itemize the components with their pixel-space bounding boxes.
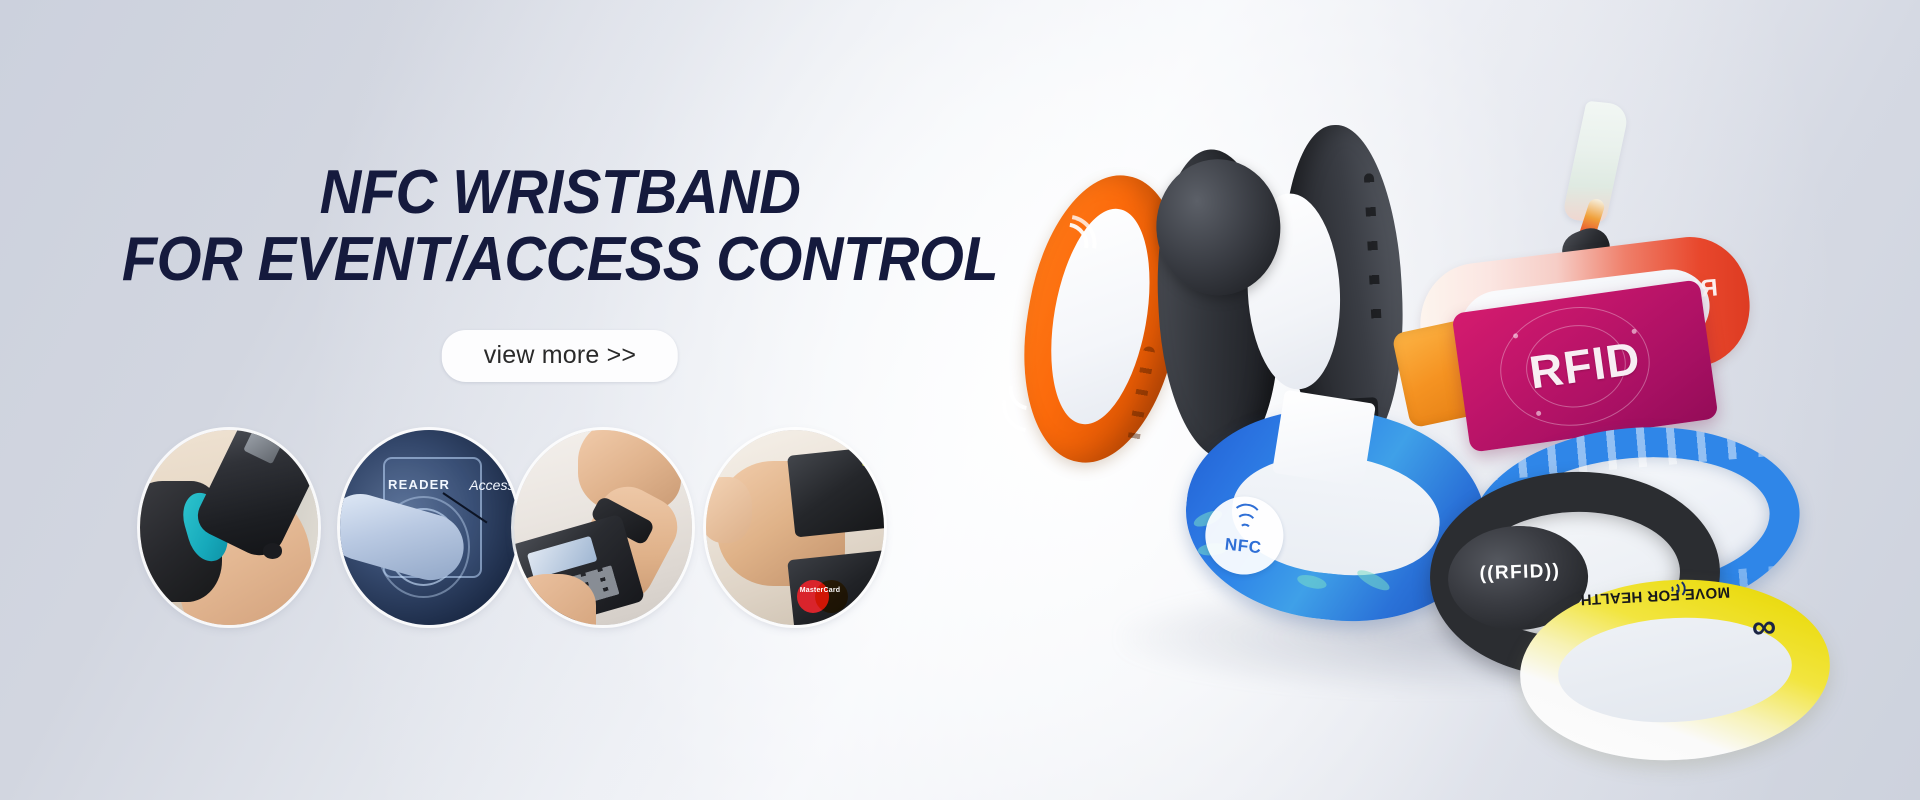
- thumb-image-handheld-scanner: [140, 430, 318, 625]
- fingers-shape: [706, 477, 752, 543]
- nfc-signal-icon: [1665, 579, 1688, 598]
- reader-label: READER: [388, 477, 450, 492]
- nfc-badge-label: NFC: [1224, 534, 1263, 558]
- fabric-band-white-panel: [1272, 390, 1376, 487]
- thumbnail-mastercard-terminal[interactable]: MasterCard: [706, 430, 884, 625]
- thumb-image-mastercard-terminal: MasterCard: [706, 430, 884, 625]
- promo-banner: NFC WRISTBAND FOR EVENT/ACCESS CONTROL v…: [0, 0, 1920, 800]
- banner-text-block: NFC WRISTBAND FOR EVENT/ACCESS CONTROL v…: [0, 0, 1120, 800]
- fingernail-shape: [263, 543, 283, 559]
- mastercard-label: MasterCard: [800, 587, 841, 594]
- mastercard-logo: MasterCard: [795, 580, 873, 613]
- view-more-button[interactable]: view more >>: [442, 330, 678, 382]
- thumbnail-pos-payment[interactable]: [514, 430, 692, 625]
- access-label: Access: [469, 477, 514, 493]
- thumbnail-row: READER Access: [140, 430, 1040, 630]
- headline-line-2: FOR EVENT/ACCESS CONTROL: [39, 227, 1081, 294]
- black-rfid-label: ((RFID)): [1460, 560, 1581, 586]
- bicycle-icon: ∞: [1750, 608, 1778, 649]
- thumbnail-handheld-scanner[interactable]: [140, 430, 318, 625]
- mastercard-orange-circle: [815, 580, 848, 613]
- product-photo-cluster: RF RFID: [1000, 110, 1900, 750]
- thumbnail-access-reader[interactable]: READER Access: [340, 430, 518, 625]
- terminal-top-shape: [787, 444, 884, 537]
- thumb-image-access-reader: READER Access: [340, 430, 518, 625]
- headline-line-1: NFC WRISTBAND: [39, 160, 1081, 227]
- page-title: NFC WRISTBAND FOR EVENT/ACCESS CONTROL: [39, 160, 1081, 294]
- thumb-image-pos-payment: [514, 430, 692, 625]
- product-band-yellow-paper: MOVE FOR HEALTH ∞: [1516, 572, 1835, 768]
- nfc-wave-icon: [1227, 513, 1263, 536]
- terminal-led: [862, 461, 870, 466]
- holding-hand-shape: [514, 574, 596, 625]
